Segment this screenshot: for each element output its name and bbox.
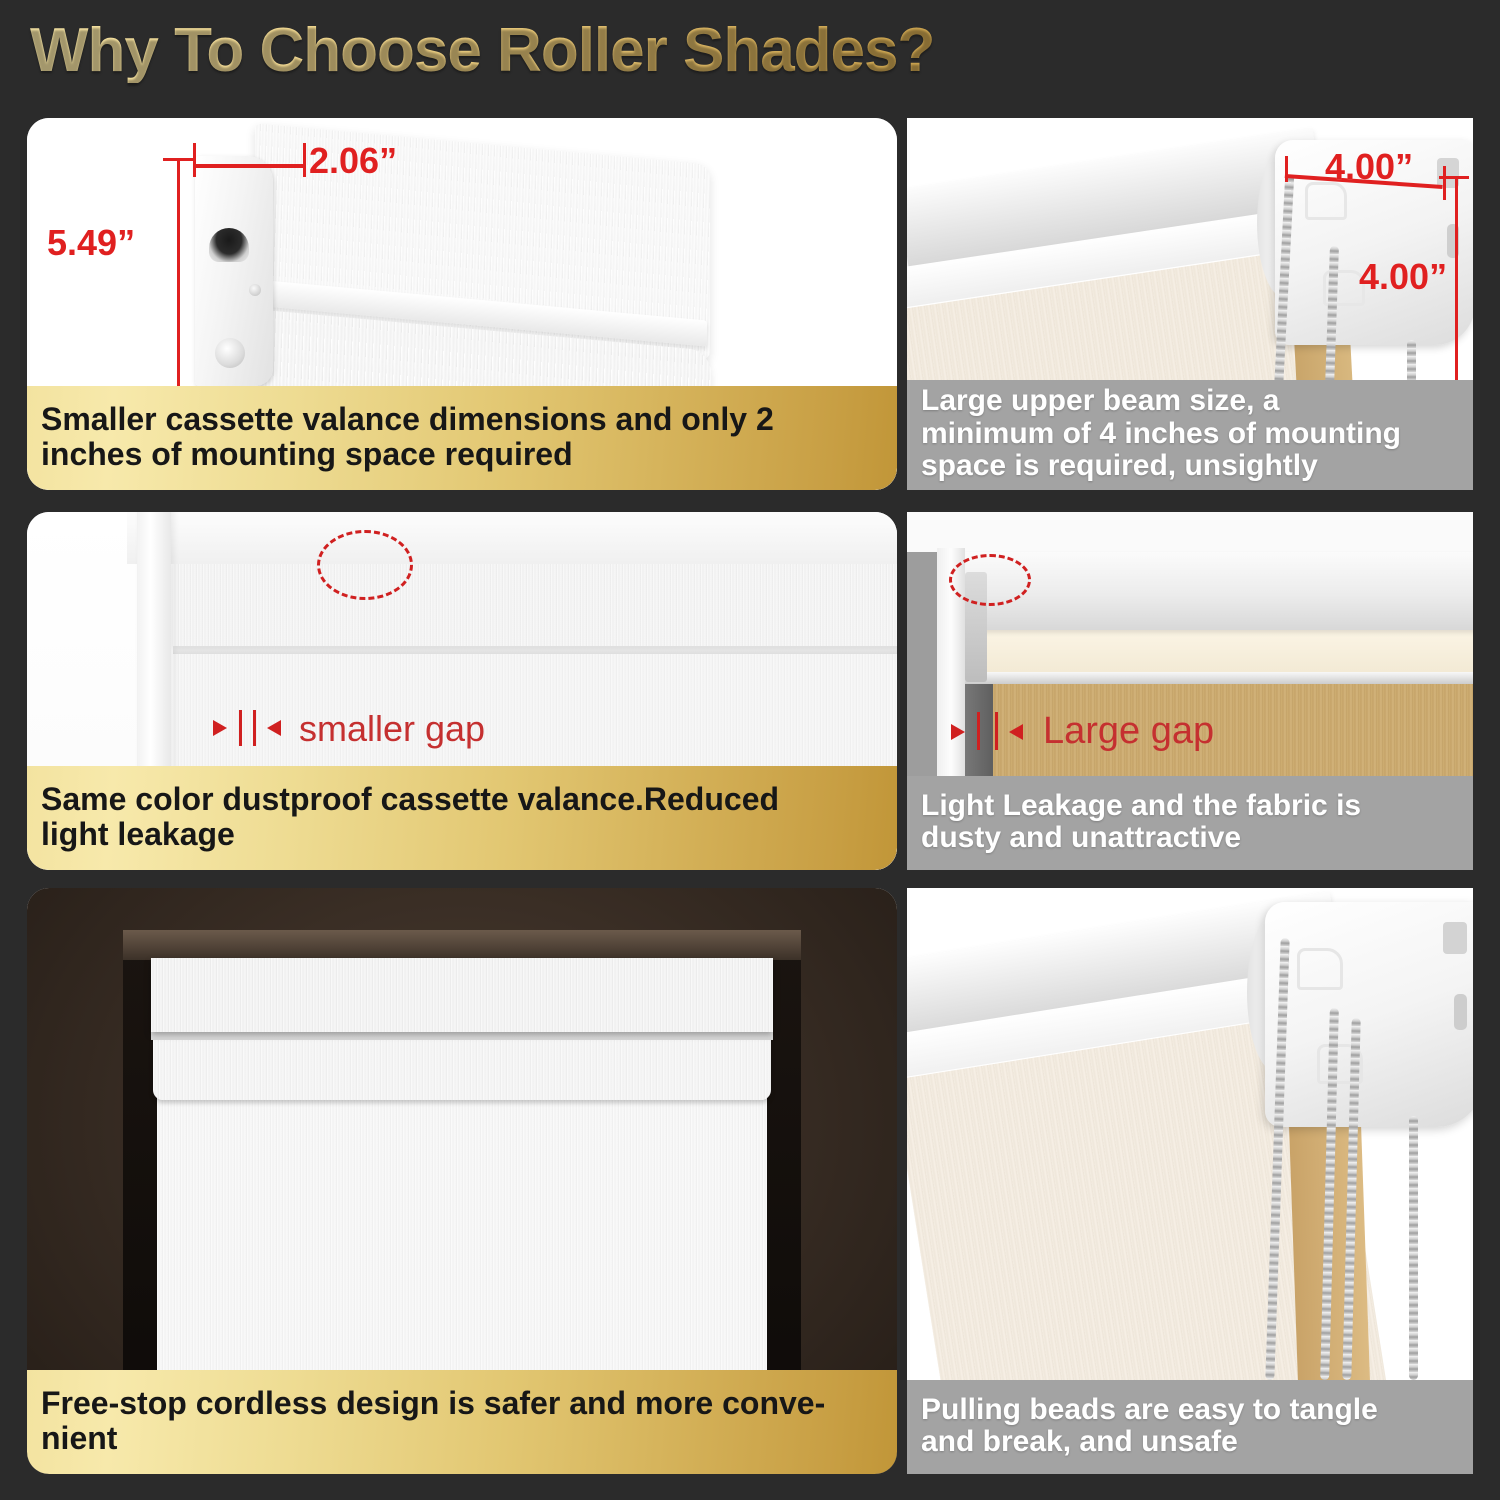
wall-upper bbox=[907, 512, 1473, 554]
caption-line-2: nient bbox=[41, 1421, 883, 1456]
mounting-bracket bbox=[1265, 902, 1473, 1127]
panel-2-caption: Large upper beam size, a minimum of 4 in… bbox=[907, 380, 1473, 490]
width-dim-tick-left bbox=[193, 143, 196, 177]
window-recess-top bbox=[123, 930, 801, 960]
gap-marker-right bbox=[253, 710, 256, 746]
beam-height-label: 4.00” bbox=[1359, 256, 1447, 298]
panel-pulling-beads: Pulling beads are easy to tangle and bre… bbox=[907, 888, 1473, 1474]
height-dimension-label: 5.49” bbox=[47, 222, 135, 264]
width-dim-line bbox=[193, 164, 305, 168]
gap-arrow-left-icon bbox=[951, 724, 965, 740]
gap-arrow-left-icon bbox=[213, 720, 227, 736]
cassette-valance bbox=[151, 958, 773, 1032]
beam-width-tick-left bbox=[1285, 156, 1288, 182]
panel-large-upper-beam: 4.00” 4.00” Large upper beam size, a min… bbox=[907, 118, 1473, 490]
window-shade-fabric bbox=[157, 1098, 767, 1393]
infographic-page: Why To Choose Roller Shades? 2.06” 5.49” bbox=[0, 0, 1500, 1500]
gap-marker-left bbox=[977, 712, 980, 750]
panel-smaller-gap: smaller gap Same color dustproof cassett… bbox=[27, 512, 897, 870]
cassette-end-cap bbox=[195, 156, 273, 386]
window-head-trim bbox=[127, 512, 897, 564]
caption-line-2: inches of mounting space required bbox=[41, 437, 883, 472]
caption-line-2: light leakage bbox=[41, 817, 883, 852]
bracket-slot-lower bbox=[1454, 994, 1467, 1030]
panel-smaller-cassette: 2.06” 5.49” Smaller cassette valance dim… bbox=[27, 118, 897, 490]
panel-5-caption: Free-stop cordless design is safer and m… bbox=[27, 1370, 897, 1474]
highlight-circle-icon bbox=[317, 530, 413, 600]
beam-rail bbox=[959, 670, 1473, 684]
beam-width-tick-right bbox=[1443, 166, 1446, 200]
width-dim-tick-right bbox=[303, 143, 306, 177]
page-title: Why To Choose Roller Shades? bbox=[30, 18, 934, 83]
beam-width-label: 4.00” bbox=[1325, 146, 1413, 188]
panel-cordless-design: Free-stop cordless design is safer and m… bbox=[27, 888, 897, 1474]
bead-chain-4 bbox=[1409, 1116, 1418, 1380]
gap-marker-right bbox=[995, 712, 998, 750]
height-dim-tick-top bbox=[163, 158, 193, 161]
upper-beam bbox=[955, 552, 1473, 630]
panel-6-caption: Pulling beads are easy to tangle and bre… bbox=[907, 1380, 1473, 1474]
bracket-emboss-upper bbox=[1297, 948, 1343, 990]
end-cap-knob bbox=[215, 338, 245, 368]
caption-line-2: and break, and unsafe bbox=[921, 1426, 1459, 1458]
caption-line-1: Smaller cassette valance dimensions and … bbox=[41, 402, 883, 437]
bracket-slot-upper bbox=[1443, 922, 1467, 954]
caption-line-2: dusty and unattractive bbox=[921, 822, 1459, 854]
caption-line-1: Light Leakage and the fabric is bbox=[921, 790, 1459, 822]
panel-large-gap: Large gap Light Leakage and the fabric i… bbox=[907, 512, 1473, 870]
caption-line-1: Pulling beads are easy to tangle bbox=[921, 1394, 1459, 1426]
width-dimension-label: 2.06” bbox=[309, 140, 397, 182]
smaller-gap-label: smaller gap bbox=[299, 708, 485, 750]
panel-4-caption: Light Leakage and the fabric is dusty an… bbox=[907, 776, 1473, 870]
panel-1-caption: Smaller cassette valance dimensions and … bbox=[27, 386, 897, 490]
beam-height-dim-line bbox=[1455, 176, 1458, 388]
caption-line-3: space is required, unsightly bbox=[921, 450, 1459, 482]
gap-marker-left bbox=[239, 710, 242, 746]
cassette-valance bbox=[173, 562, 897, 646]
caption-line-2: minimum of 4 inches of mounting bbox=[921, 418, 1459, 450]
caption-line-1: Free-stop cordless design is safer and m… bbox=[41, 1386, 883, 1421]
caption-line-1: Large upper beam size, a bbox=[921, 385, 1459, 417]
shade-roll bbox=[153, 1038, 771, 1100]
gap-arrow-right-icon bbox=[1009, 724, 1023, 740]
end-cap-screw bbox=[249, 284, 261, 296]
caption-line-1: Same color dustproof cassette valance.Re… bbox=[41, 782, 883, 817]
beam-height-tick-top bbox=[1439, 176, 1469, 179]
gap-arrow-right-icon bbox=[267, 720, 281, 736]
panel-3-caption: Same color dustproof cassette valance.Re… bbox=[27, 766, 897, 870]
large-gap-label: Large gap bbox=[1043, 710, 1214, 753]
highlight-circle-icon bbox=[949, 554, 1031, 606]
